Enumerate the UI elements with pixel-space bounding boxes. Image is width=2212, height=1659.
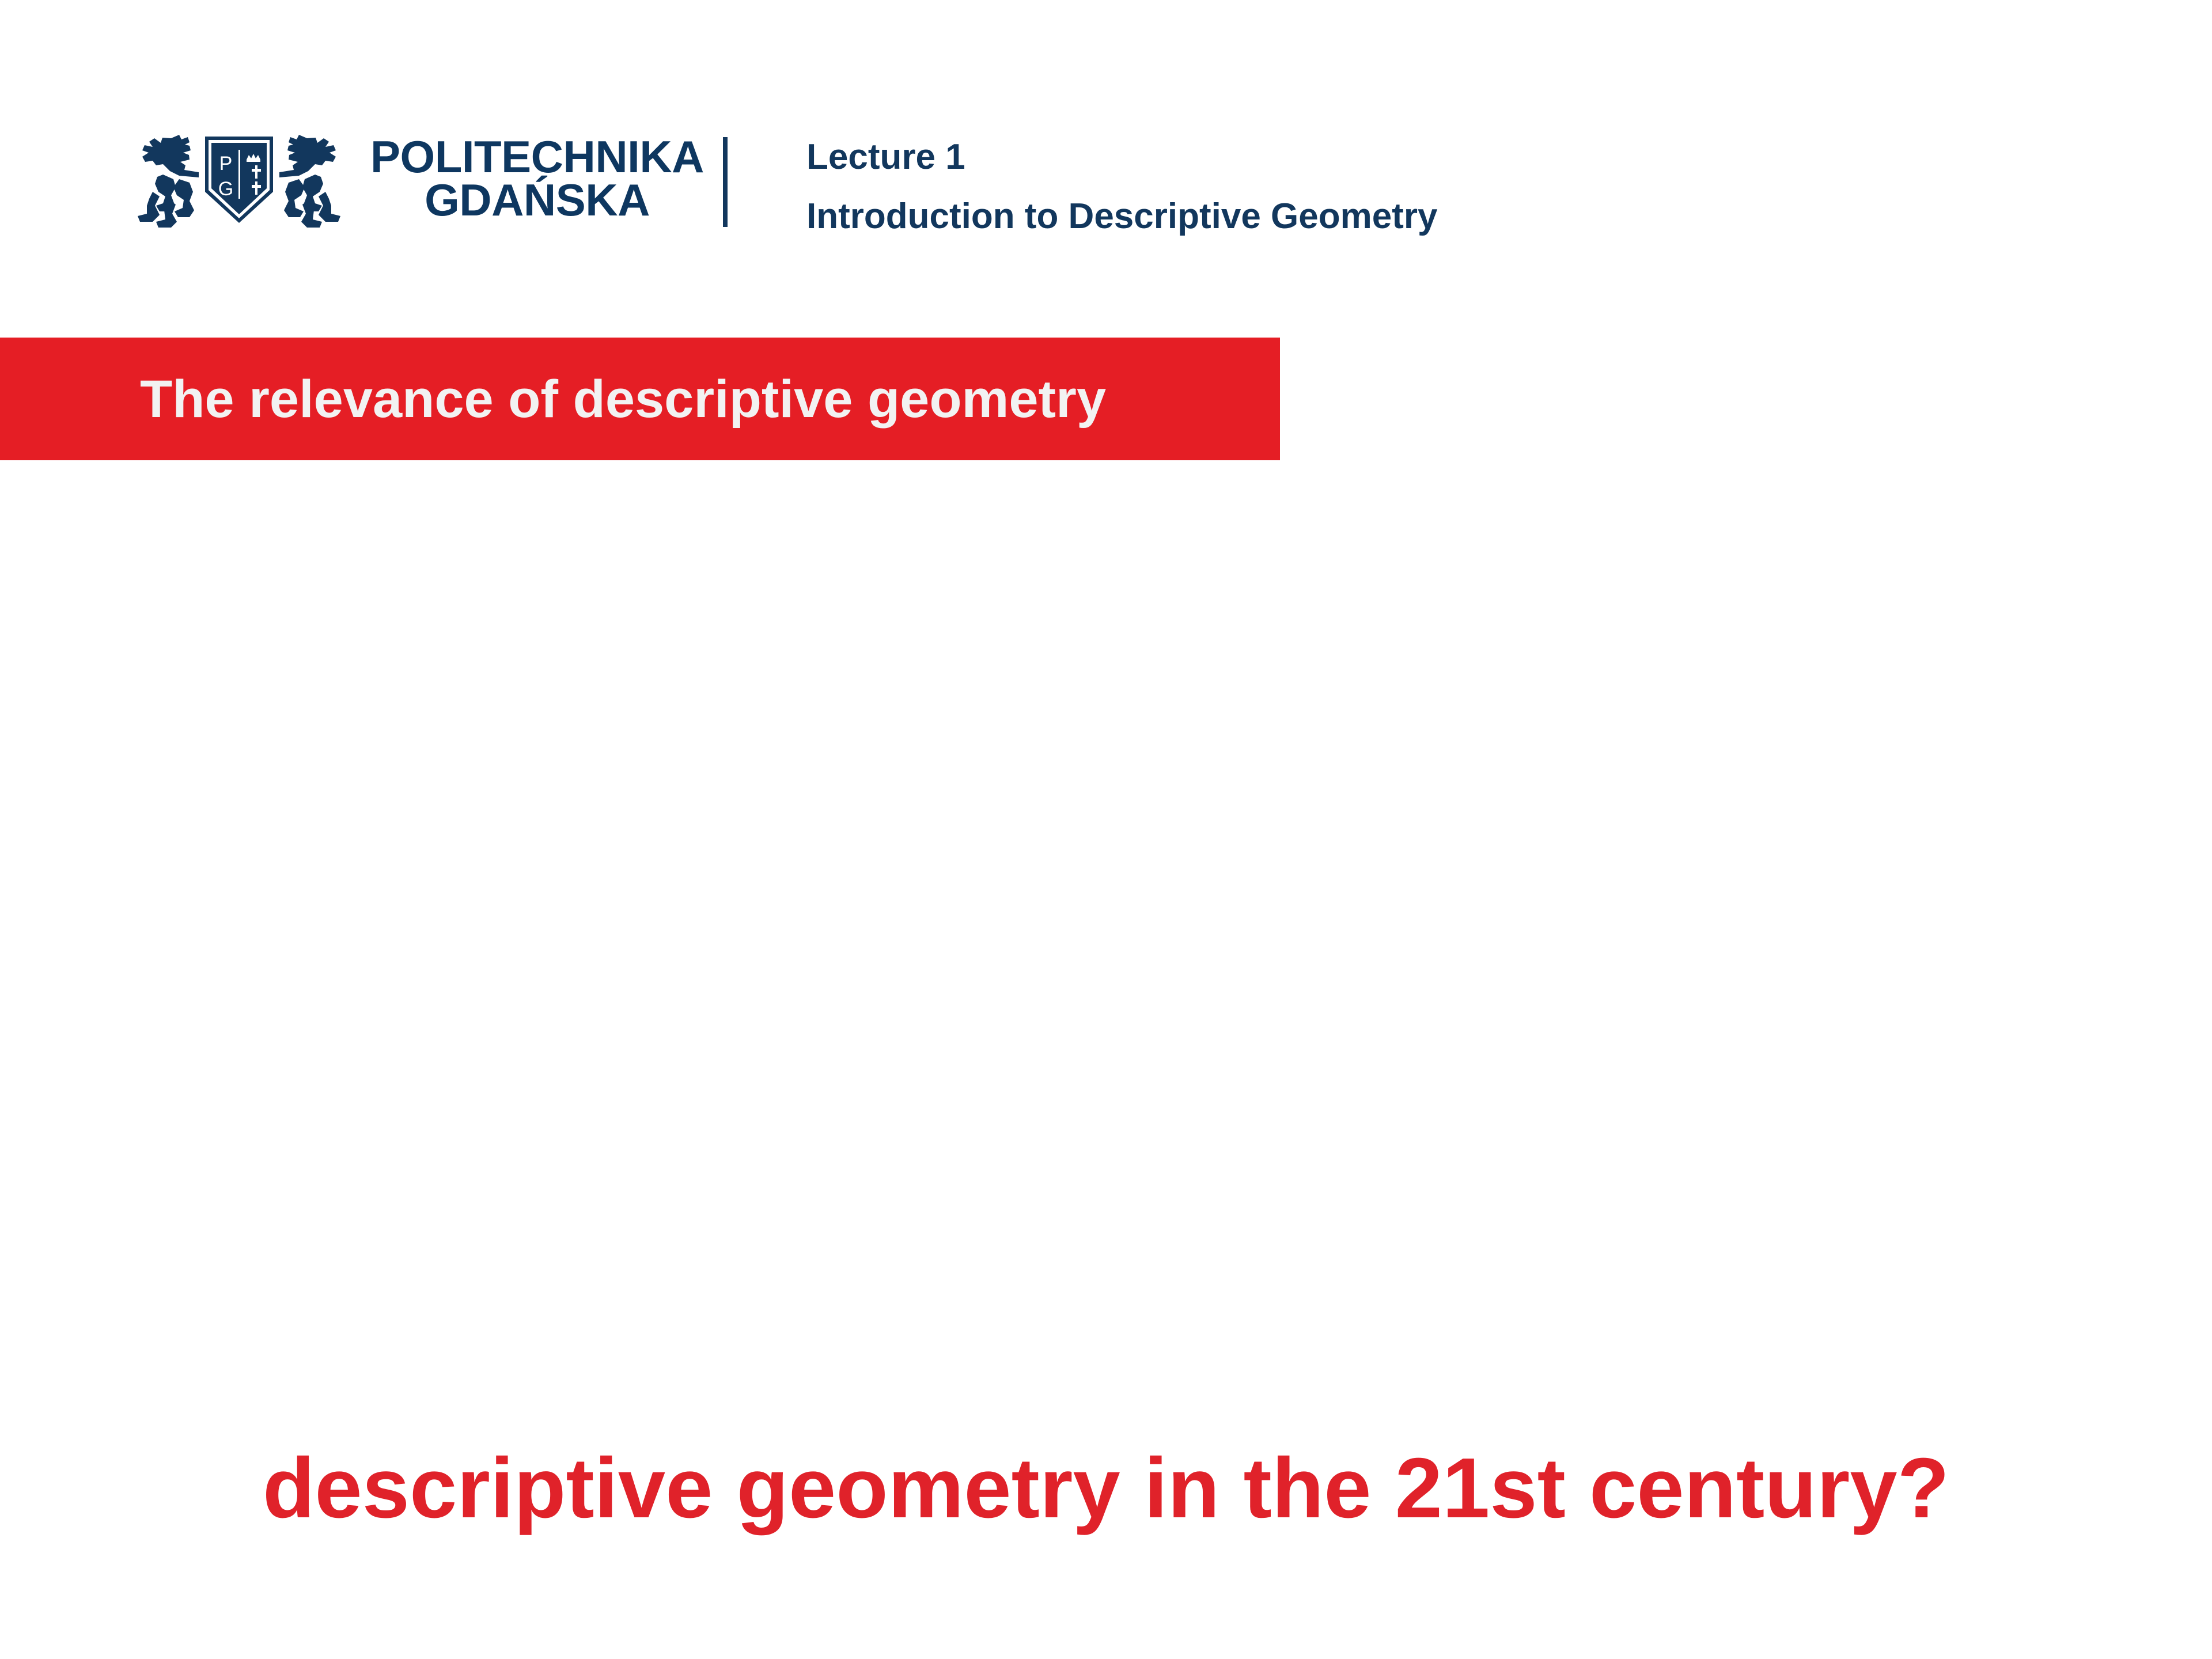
- university-logo-lockup: P G POLITECHNIKA GDAŃSKA: [130, 124, 704, 233]
- headline-question: descriptive geometry in the 21st century…: [0, 1440, 2212, 1537]
- shield-letter-p: P: [219, 153, 233, 175]
- university-wordmark: POLITECHNIKA GDAŃSKA: [370, 135, 704, 222]
- lecture-subject: Introduction to Descriptive Geometry: [806, 187, 1438, 247]
- shield-letter-g: G: [218, 178, 233, 200]
- slide-content-area: descriptive geometry in the 21st century…: [0, 461, 2212, 1659]
- lecture-number: Lecture 1: [806, 128, 1438, 187]
- politechnika-gdanska-crest-icon: P G: [130, 124, 349, 233]
- lecture-title-block: Lecture 1 Introduction to Descriptive Ge…: [806, 128, 1438, 247]
- wordmark-line-2: GDAŃSKA: [370, 179, 704, 222]
- slide-header: P G POLITECHNIKA GDAŃSKA Lecture 1 Intro…: [0, 0, 2212, 288]
- section-banner: The relevance of descriptive geometry: [0, 338, 1280, 460]
- slide: P G POLITECHNIKA GDAŃSKA Lecture 1 Intro…: [0, 0, 2212, 1659]
- wordmark-line-1: POLITECHNIKA: [370, 135, 704, 179]
- header-divider: [723, 137, 728, 227]
- section-banner-label: The relevance of descriptive geometry: [140, 373, 1106, 426]
